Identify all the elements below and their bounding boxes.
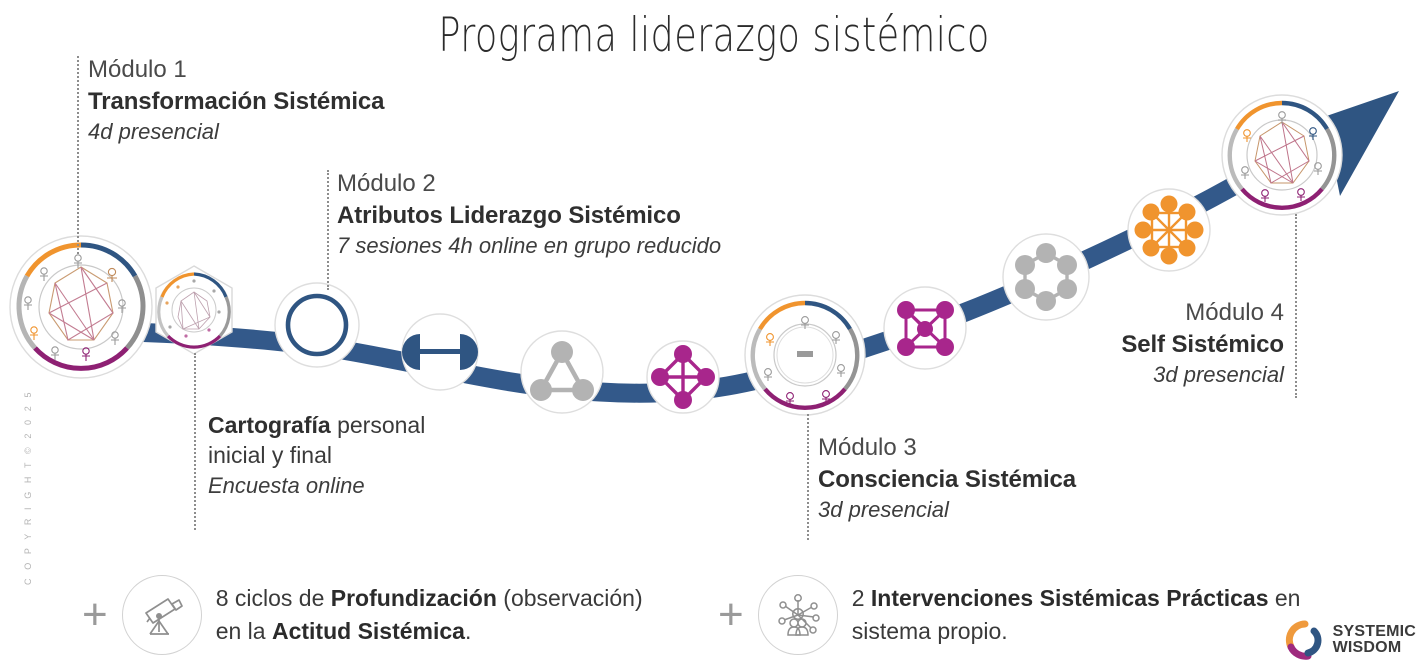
plus-sign-1: +: [82, 593, 108, 637]
network-people-icon-circle: [758, 575, 838, 655]
node-orange-starnet[interactable]: [1128, 189, 1210, 271]
module2-detail: 7 sesiones 4h online en grupo reducido: [337, 231, 721, 260]
footer-item-1-line2: en la Actitud Sistémica.: [216, 615, 643, 648]
f2-l2-pre: sistema propio.: [852, 618, 1008, 644]
f1-l2-bold: Actitud Sistémica: [272, 618, 465, 644]
footer-item-2-line1: 2 Intervenciones Sistémicas Prácticas en: [852, 582, 1301, 615]
node-navy-dumbbell[interactable]: [402, 314, 478, 390]
plus-sign-2: +: [718, 593, 744, 637]
leader-module3: [807, 414, 809, 540]
cartografia-line1-bold: Cartografía: [208, 412, 331, 438]
module4-label: Módulo 4: [1000, 297, 1284, 329]
footer-item-1-line1: 8 ciclos de Profundización (observación): [216, 582, 643, 615]
leader-cartografia: [194, 353, 196, 530]
callout-cartografia: Cartografía personal inicial y final Enc…: [208, 410, 425, 500]
leader-module4: [1295, 214, 1297, 398]
f1-l1-pre: 8 ciclos de: [216, 585, 331, 611]
module3-detail: 3d presencial: [818, 495, 1076, 524]
leader-module1: [77, 56, 79, 254]
cartografia-line2: inicial y final: [208, 440, 425, 470]
logo-mark-icon: [1284, 619, 1326, 661]
module4-detail: 3d presencial: [1000, 360, 1284, 389]
module1-name: Transformación Sistémica: [88, 86, 384, 118]
node-enneagram-end[interactable]: [1222, 95, 1342, 215]
systemic-wisdom-logo[interactable]: SYSTEMIC WISDOM: [1284, 619, 1416, 661]
footer-item-2: +: [718, 575, 1300, 655]
module1-detail: 4d presencial: [88, 117, 384, 146]
f1-l1-post: (observación): [497, 585, 643, 611]
node-navy-ring[interactable]: [275, 283, 359, 367]
node-magenta-diamond[interactable]: [647, 341, 719, 413]
f2-l1-bold: Intervenciones Sistémicas Prácticas: [871, 585, 1269, 611]
module3-name: Consciencia Sistémica: [818, 464, 1076, 496]
callout-module-4: Módulo 4 Self Sistémico 3d presencial: [1000, 297, 1284, 389]
copyright-text: C O P Y R I G H T © 2 0 2 5: [23, 425, 33, 585]
logo-line-1: SYSTEMIC: [1333, 624, 1416, 640]
cartografia-detail: Encuesta online: [208, 471, 425, 500]
module2-label: Módulo 2: [337, 168, 721, 200]
callout-module-3: Módulo 3 Consciencia Sistémica 3d presen…: [818, 432, 1076, 524]
logo-line-2: WISDOM: [1333, 640, 1416, 656]
module3-label: Módulo 3: [818, 432, 1076, 464]
callout-module-2: Módulo 2 Atributos Liderazgo Sistémico 7…: [337, 168, 721, 260]
telescope-icon: [134, 587, 190, 643]
node-wheel-people[interactable]: [745, 295, 865, 415]
module2-name: Atributos Liderazgo Sistémico: [337, 200, 721, 232]
f1-l2-post: .: [465, 618, 471, 644]
callout-module-1: Módulo 1 Transformación Sistémica 4d pre…: [88, 54, 384, 146]
logo-text: SYSTEMIC WISDOM: [1333, 624, 1416, 657]
f1-l2-pre: en la: [216, 618, 272, 644]
module4-name: Self Sistémico: [1000, 329, 1284, 361]
module1-label: Módulo 1: [88, 54, 384, 86]
node-magenta-mesh[interactable]: [884, 287, 966, 369]
footer-item-1-text: 8 ciclos de Profundización (observación)…: [216, 582, 643, 647]
node-grey-triangle[interactable]: [521, 331, 603, 413]
node-enneagram-start[interactable]: [10, 236, 152, 378]
cartografia-line1: Cartografía personal: [208, 410, 425, 440]
infographic-canvas: Programa liderazgo sistémico Módulo 1 Tr…: [0, 0, 1428, 671]
leader-module2: [327, 170, 329, 290]
footer-item-2-line2: sistema propio.: [852, 615, 1301, 648]
footer-item-1: + 8 ciclos de Profundización (observació…: [82, 575, 643, 655]
f2-l1-post: en: [1269, 585, 1301, 611]
footer-item-2-text: 2 Intervenciones Sistémicas Prácticas en…: [852, 582, 1301, 647]
f2-l1-pre: 2: [852, 585, 871, 611]
network-people-icon: [770, 587, 826, 643]
f1-l1-bold: Profundización: [331, 585, 497, 611]
telescope-icon-circle: [122, 575, 202, 655]
cartografia-line1-rest: personal: [331, 412, 426, 438]
